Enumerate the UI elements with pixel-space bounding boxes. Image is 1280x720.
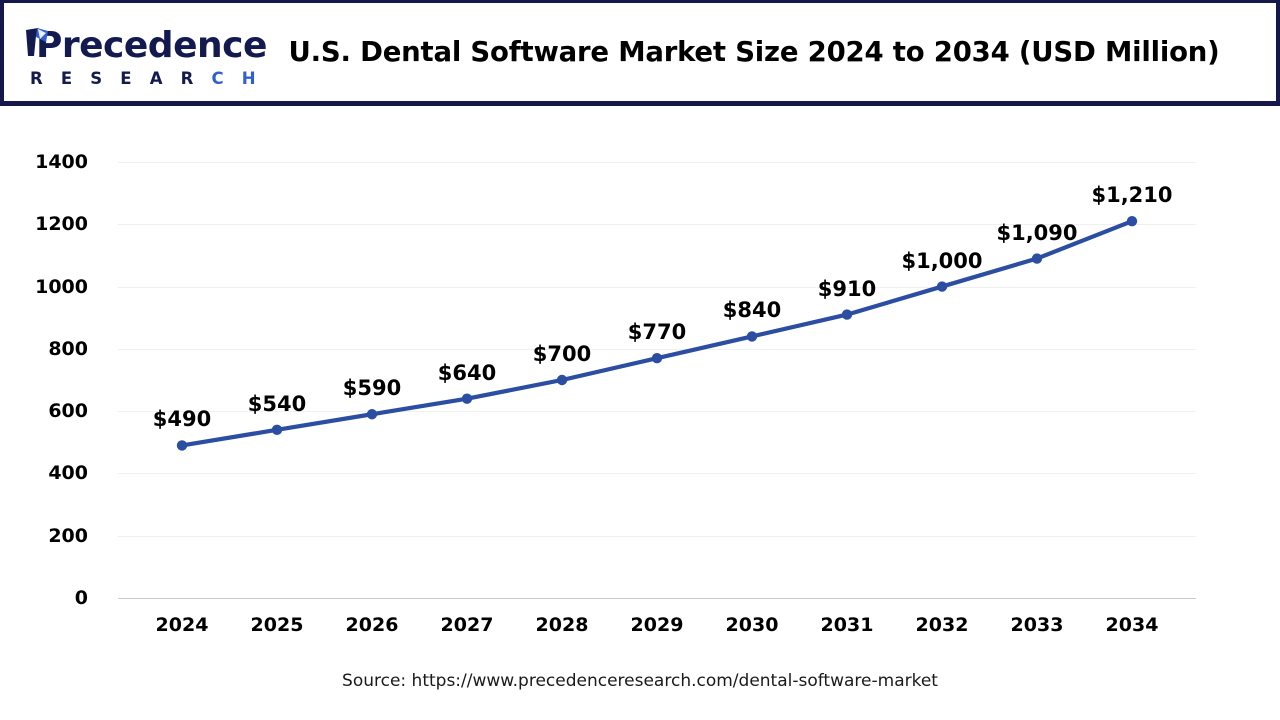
chart-page: Precedence R E S E A R C H U.S. Dental S… [0,0,1280,720]
data-point-2029 [652,353,662,363]
data-label-2030: $840 [672,298,832,322]
precedence-research-logo: Precedence R E S E A R C H [16,21,231,91]
chart-plot-region: 0200400600800100012001400202420252026202… [0,106,1280,720]
data-point-2027 [462,393,472,403]
data-label-2029: $770 [577,320,737,344]
data-point-2028 [557,375,567,385]
logo-word-research: R E S E A R C H [16,71,231,88]
data-point-2031 [842,309,852,319]
data-point-2024 [177,440,187,450]
data-label-2033: $1,090 [957,221,1117,245]
data-label-2031: $910 [767,277,927,301]
chart-header: Precedence R E S E A R C H U.S. Dental S… [0,0,1280,106]
data-label-2032: $1,000 [862,249,1022,273]
page-title: U.S. Dental Software Market Size 2024 to… [254,3,1254,101]
data-point-2034 [1127,216,1137,226]
data-label-2034: $1,210 [1052,183,1212,207]
data-point-2025 [272,425,282,435]
data-point-2030 [747,331,757,341]
data-point-2033 [1032,253,1042,263]
data-point-2026 [367,409,377,419]
source-caption: Source: https://www.precedenceresearch.c… [0,671,1280,691]
logo-wordmark: Precedence [16,24,231,68]
data-label-2028: $700 [482,342,642,366]
precedence-leaf-icon [24,26,58,60]
data-point-2032 [937,281,947,291]
